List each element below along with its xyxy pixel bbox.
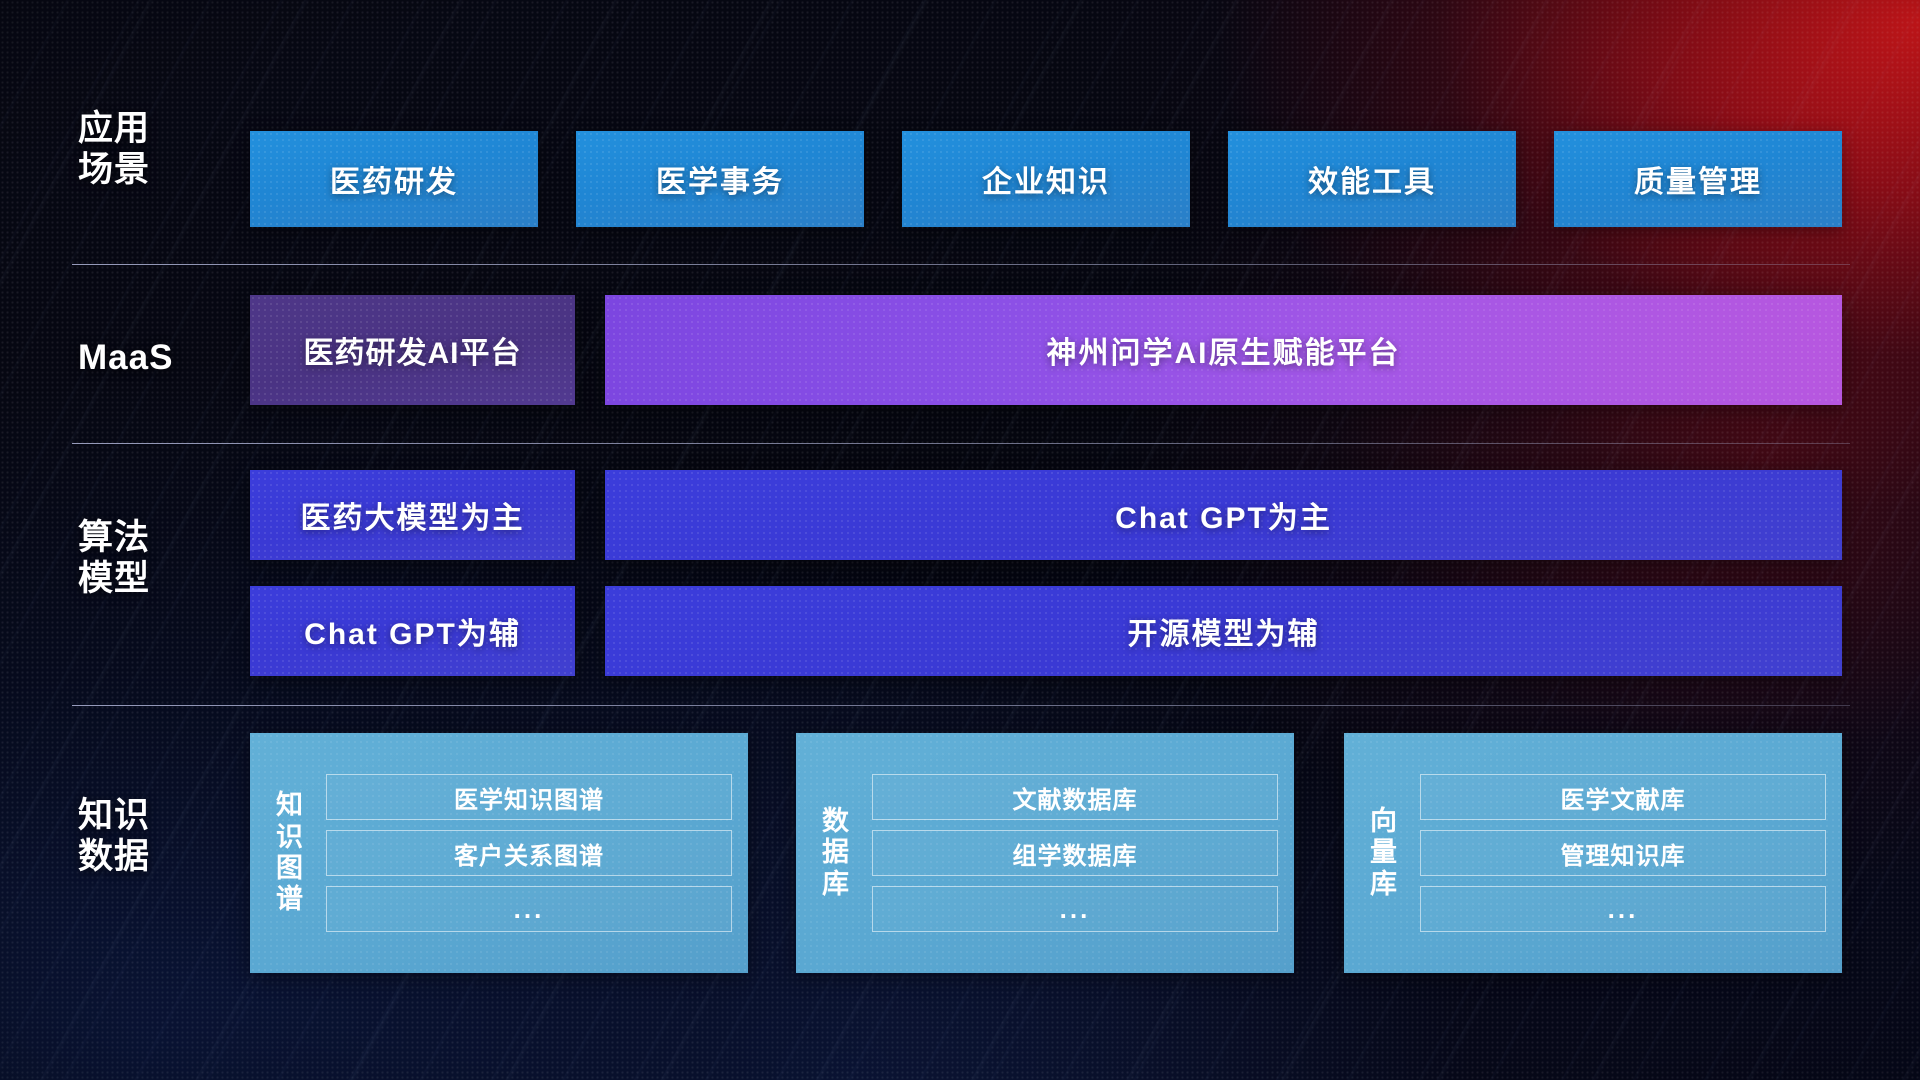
app-tile-1-label: 医学事务 xyxy=(656,157,784,201)
app-tile-2[interactable]: 企业知识 xyxy=(902,131,1190,227)
maas-tile-pharma-platform[interactable]: 医药研发AI平台 xyxy=(250,295,575,405)
knowledge-group-database-items: 文献数据库 组学数据库 ... xyxy=(858,747,1278,959)
knowledge-group-database-title: 数据库 xyxy=(796,747,858,959)
app-tile-1[interactable]: 医学事务 xyxy=(576,131,864,227)
knowledge-item-more[interactable]: ... xyxy=(326,886,732,932)
app-tile-0[interactable]: 医药研发 xyxy=(250,131,538,227)
algo-tile-pharma-main-label: 医药大模型为主 xyxy=(301,493,525,537)
maas-tile-pharma-platform-label: 医药研发AI平台 xyxy=(304,328,522,372)
algo-tile-pharma-main[interactable]: 医药大模型为主 xyxy=(250,470,575,560)
app-tile-0-label: 医药研发 xyxy=(330,157,458,201)
row-label-line2: 场景 xyxy=(78,149,218,190)
app-tile-2-label: 企业知识 xyxy=(982,157,1110,201)
knowledge-item[interactable]: 组学数据库 xyxy=(872,830,1278,876)
row-label-application-scenario: 应用 场景 xyxy=(78,108,218,191)
maas-tile-shenzhou-platform-label: 神州问学AI原生赋能平台 xyxy=(1047,328,1401,372)
knowledge-item[interactable]: 文献数据库 xyxy=(872,774,1278,820)
knowledge-group-graph-items: 医学知识图谱 客户关系图谱 ... xyxy=(312,747,732,959)
row-label-line2: 模型 xyxy=(78,558,218,599)
app-tile-3-label: 效能工具 xyxy=(1308,157,1436,201)
row-label-line1: 知识 xyxy=(78,795,218,836)
knowledge-item[interactable]: 管理知识库 xyxy=(1420,830,1826,876)
knowledge-item[interactable]: 医学知识图谱 xyxy=(326,774,732,820)
knowledge-group-vector[interactable]: 向量库 医学文献库 管理知识库 ... xyxy=(1344,733,1842,973)
row-label-maas-text: MaaS xyxy=(78,337,218,378)
algo-tile-gpt-aux[interactable]: Chat GPT为辅 xyxy=(250,586,575,676)
app-tile-4[interactable]: 质量管理 xyxy=(1554,131,1842,227)
knowledge-group-database[interactable]: 数据库 文献数据库 组学数据库 ... xyxy=(796,733,1294,973)
app-tile-3[interactable]: 效能工具 xyxy=(1228,131,1516,227)
algo-tile-gpt-aux-label: Chat GPT为辅 xyxy=(304,609,521,653)
knowledge-group-vector-items: 医学文献库 管理知识库 ... xyxy=(1406,747,1826,959)
maas-tile-shenzhou-platform[interactable]: 神州问学AI原生赋能平台 xyxy=(605,295,1842,405)
algo-tile-opensource-aux[interactable]: 开源模型为辅 xyxy=(605,586,1842,676)
algo-tile-opensource-aux-label: 开源模型为辅 xyxy=(1128,609,1320,653)
row-label-algorithm-model: 算法 模型 xyxy=(78,517,218,600)
knowledge-item[interactable]: 客户关系图谱 xyxy=(326,830,732,876)
knowledge-item-more[interactable]: ... xyxy=(872,886,1278,932)
divider-3 xyxy=(72,705,1850,706)
knowledge-group-graph[interactable]: 知识图谱 医学知识图谱 客户关系图谱 ... xyxy=(250,733,748,973)
knowledge-item[interactable]: 医学文献库 xyxy=(1420,774,1826,820)
knowledge-item-more[interactable]: ... xyxy=(1420,886,1826,932)
algo-tile-gpt-main[interactable]: Chat GPT为主 xyxy=(605,470,1842,560)
divider-1 xyxy=(72,264,1850,265)
app-tile-4-label: 质量管理 xyxy=(1634,157,1762,201)
divider-2 xyxy=(72,443,1850,444)
row-label-line2: 数据 xyxy=(78,836,218,877)
knowledge-group-graph-title: 知识图谱 xyxy=(250,747,312,959)
row-label-line1: 应用 xyxy=(78,108,218,149)
architecture-diagram: 应用 场景 医药研发 医学事务 企业知识 效能工具 质量管理 MaaS 医药研发… xyxy=(0,0,1920,1080)
row-label-knowledge-data: 知识 数据 xyxy=(78,795,218,878)
row-label-line1: 算法 xyxy=(78,517,218,558)
knowledge-group-vector-title: 向量库 xyxy=(1344,747,1406,959)
algo-tile-gpt-main-label: Chat GPT为主 xyxy=(1115,493,1332,537)
row-label-maas: MaaS xyxy=(78,337,218,378)
